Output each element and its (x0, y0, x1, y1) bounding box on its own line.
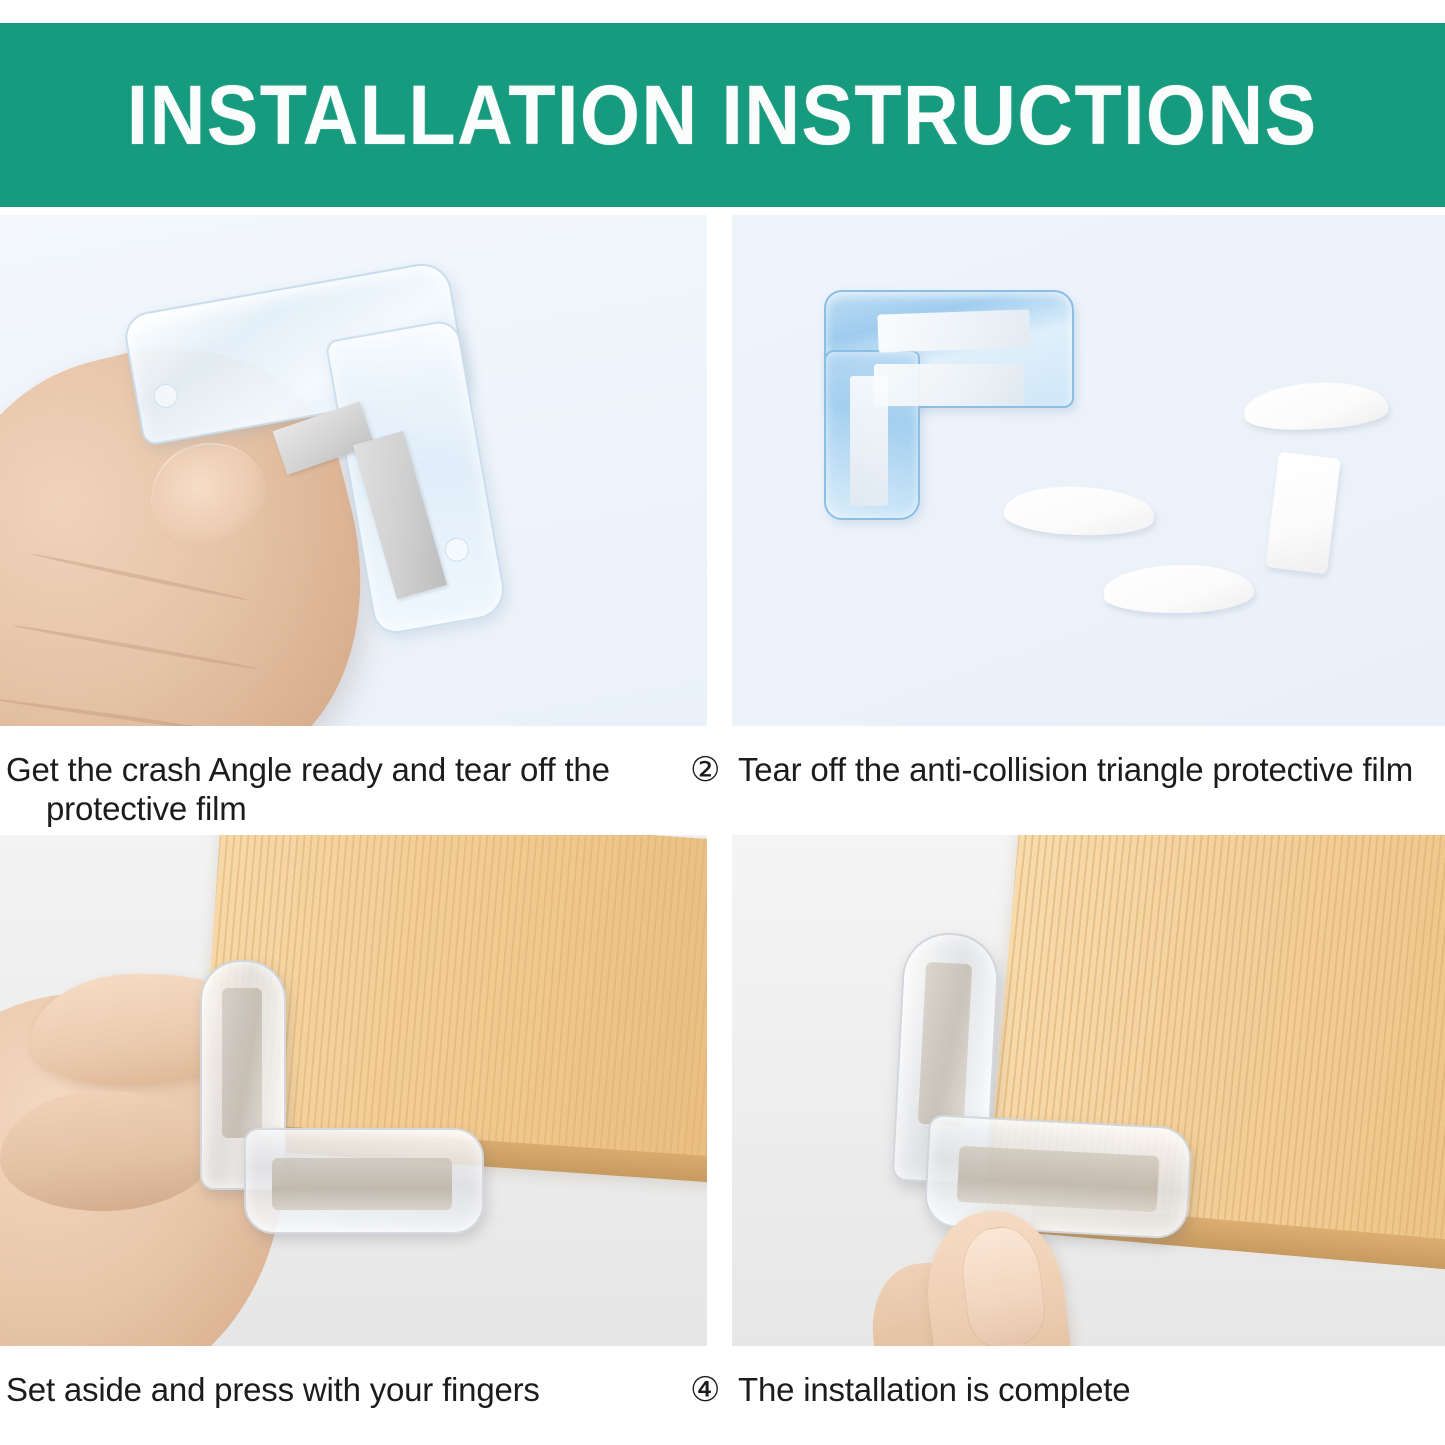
step-3-photo (0, 835, 707, 1346)
step-panel-4: ④The installation is complete (732, 835, 1445, 1410)
clear-corner-guard (121, 259, 508, 671)
step-1-caption: ①Get the crash Angle ready and tear off … (0, 726, 707, 829)
step-2-caption: ②Tear off the anti-collision triangle pr… (732, 726, 1445, 790)
peeled-film-strip (1003, 484, 1155, 537)
page-title: INSTALLATION INSTRUCTIONS (127, 73, 1318, 157)
steps-grid: ①Get the crash Angle ready and tear off … (0, 211, 1445, 1445)
clear-corner-guard (200, 960, 490, 1280)
step-4-photo (732, 835, 1445, 1346)
step-text-3: Set aside and press with your fingers (6, 1371, 540, 1408)
peeled-film-strip (1243, 379, 1389, 432)
instruction-sheet: INSTALLATION INSTRUCTIONS (0, 0, 1445, 1445)
guard-adhesive-core (272, 1158, 452, 1210)
guard-film-residue (874, 364, 1024, 406)
guard-adhesive-core (918, 962, 972, 1126)
guard-film-residue (850, 376, 888, 506)
step-2-photo (732, 215, 1445, 726)
step-1-photo (0, 215, 707, 726)
guard-adhesive-core (957, 1146, 1160, 1212)
step-4-caption: ④The installation is complete (732, 1346, 1445, 1410)
header-banner: INSTALLATION INSTRUCTIONS (0, 23, 1445, 207)
step-3-caption: ③Set aside and press with your fingers (0, 1346, 707, 1410)
guard-adhesive-core (222, 988, 262, 1138)
step-panel-2: ②Tear off the anti-collision triangle pr… (732, 215, 1445, 790)
step-text-1: Get the crash Angle ready and tear off t… (6, 751, 610, 827)
step-text-4: The installation is complete (738, 1371, 1130, 1408)
step-text-2: Tear off the anti-collision triangle pro… (738, 751, 1413, 788)
step-panel-3: ③Set aside and press with your fingers (0, 835, 707, 1410)
step-panel-1: ①Get the crash Angle ready and tear off … (0, 215, 707, 829)
blue-corner-guard (824, 290, 1074, 520)
installed-corner-guard (878, 933, 1198, 1273)
peeled-film-strip (1265, 452, 1341, 575)
guard-film-residue (877, 309, 1030, 352)
peeled-film-strip (1104, 564, 1255, 615)
